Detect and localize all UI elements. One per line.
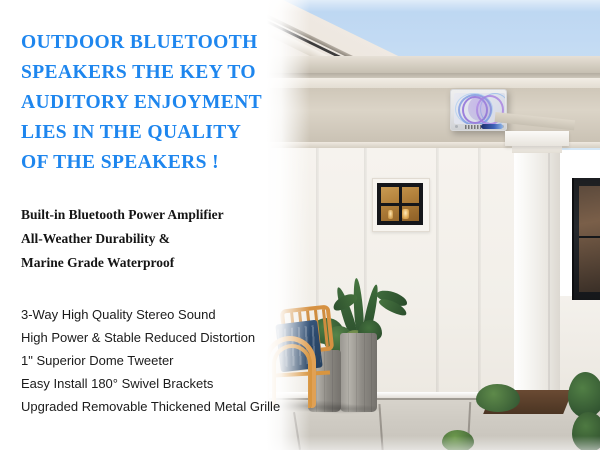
wall-batten bbox=[436, 148, 439, 408]
porch-beam bbox=[250, 56, 600, 73]
porch-column-capital bbox=[505, 131, 569, 146]
outdoor-bluetooth-speaker bbox=[450, 89, 507, 131]
spec-item-3: 1" Superior Dome Tweeter bbox=[21, 349, 296, 372]
feature-line-3: Marine Grade Waterproof bbox=[21, 251, 261, 275]
speaker-cone bbox=[468, 96, 492, 121]
speaker-screw bbox=[455, 125, 458, 128]
spec-item-1: 3-Way High Quality Stereo Sound bbox=[21, 303, 296, 326]
shrub bbox=[476, 384, 520, 412]
feature-line-1: Built-in Bluetooth Power Amplifier bbox=[21, 203, 261, 227]
shrub bbox=[568, 372, 600, 418]
shrub bbox=[572, 412, 600, 450]
spec-list: 3-Way High Quality Stereo Sound High Pow… bbox=[21, 303, 296, 418]
feature-highlights: Built-in Bluetooth Power Amplifier All-W… bbox=[21, 203, 261, 275]
right-window-mullion bbox=[579, 236, 600, 238]
spec-item-2: High Power & Stable Reduced Distortion bbox=[21, 326, 296, 349]
headline-line-3: AUDITORY ENJOYMENT bbox=[21, 88, 261, 118]
speaker-tweeter-bar bbox=[481, 124, 503, 129]
headline-line-1: OUTDOOR BLUETOOTH bbox=[21, 28, 261, 58]
window-interior-lamp bbox=[402, 209, 409, 219]
photo-scene bbox=[250, 0, 600, 450]
headline-line-2: SPEAKERS THE KEY TO bbox=[21, 58, 261, 88]
speaker-brand-mark bbox=[465, 125, 481, 129]
wall-batten bbox=[478, 148, 481, 408]
porch-column-neck bbox=[512, 146, 562, 153]
shrub bbox=[442, 430, 474, 450]
window-mullion-horizontal bbox=[381, 203, 419, 206]
porch-beam-lower bbox=[250, 78, 600, 88]
spec-item-4: Easy Install 180° Swivel Brackets bbox=[21, 372, 296, 395]
headline-line-5: OF THE SPEAKERS ! bbox=[21, 148, 261, 178]
spec-item-5: Upgraded Removable Thickened Metal Grill… bbox=[21, 395, 296, 418]
product-banner: OUTDOOR BLUETOOTH SPEAKERS THE KEY TO AU… bbox=[0, 0, 600, 450]
feature-line-2: All-Weather Durability & bbox=[21, 227, 261, 251]
product-lifestyle-photo bbox=[250, 0, 600, 450]
headline: OUTDOOR BLUETOOTH SPEAKERS THE KEY TO AU… bbox=[21, 28, 261, 178]
window-interior-lamp bbox=[388, 210, 393, 219]
headline-line-4: LIES IN THE QUALITY bbox=[21, 118, 261, 148]
right-window-glass bbox=[579, 186, 600, 292]
